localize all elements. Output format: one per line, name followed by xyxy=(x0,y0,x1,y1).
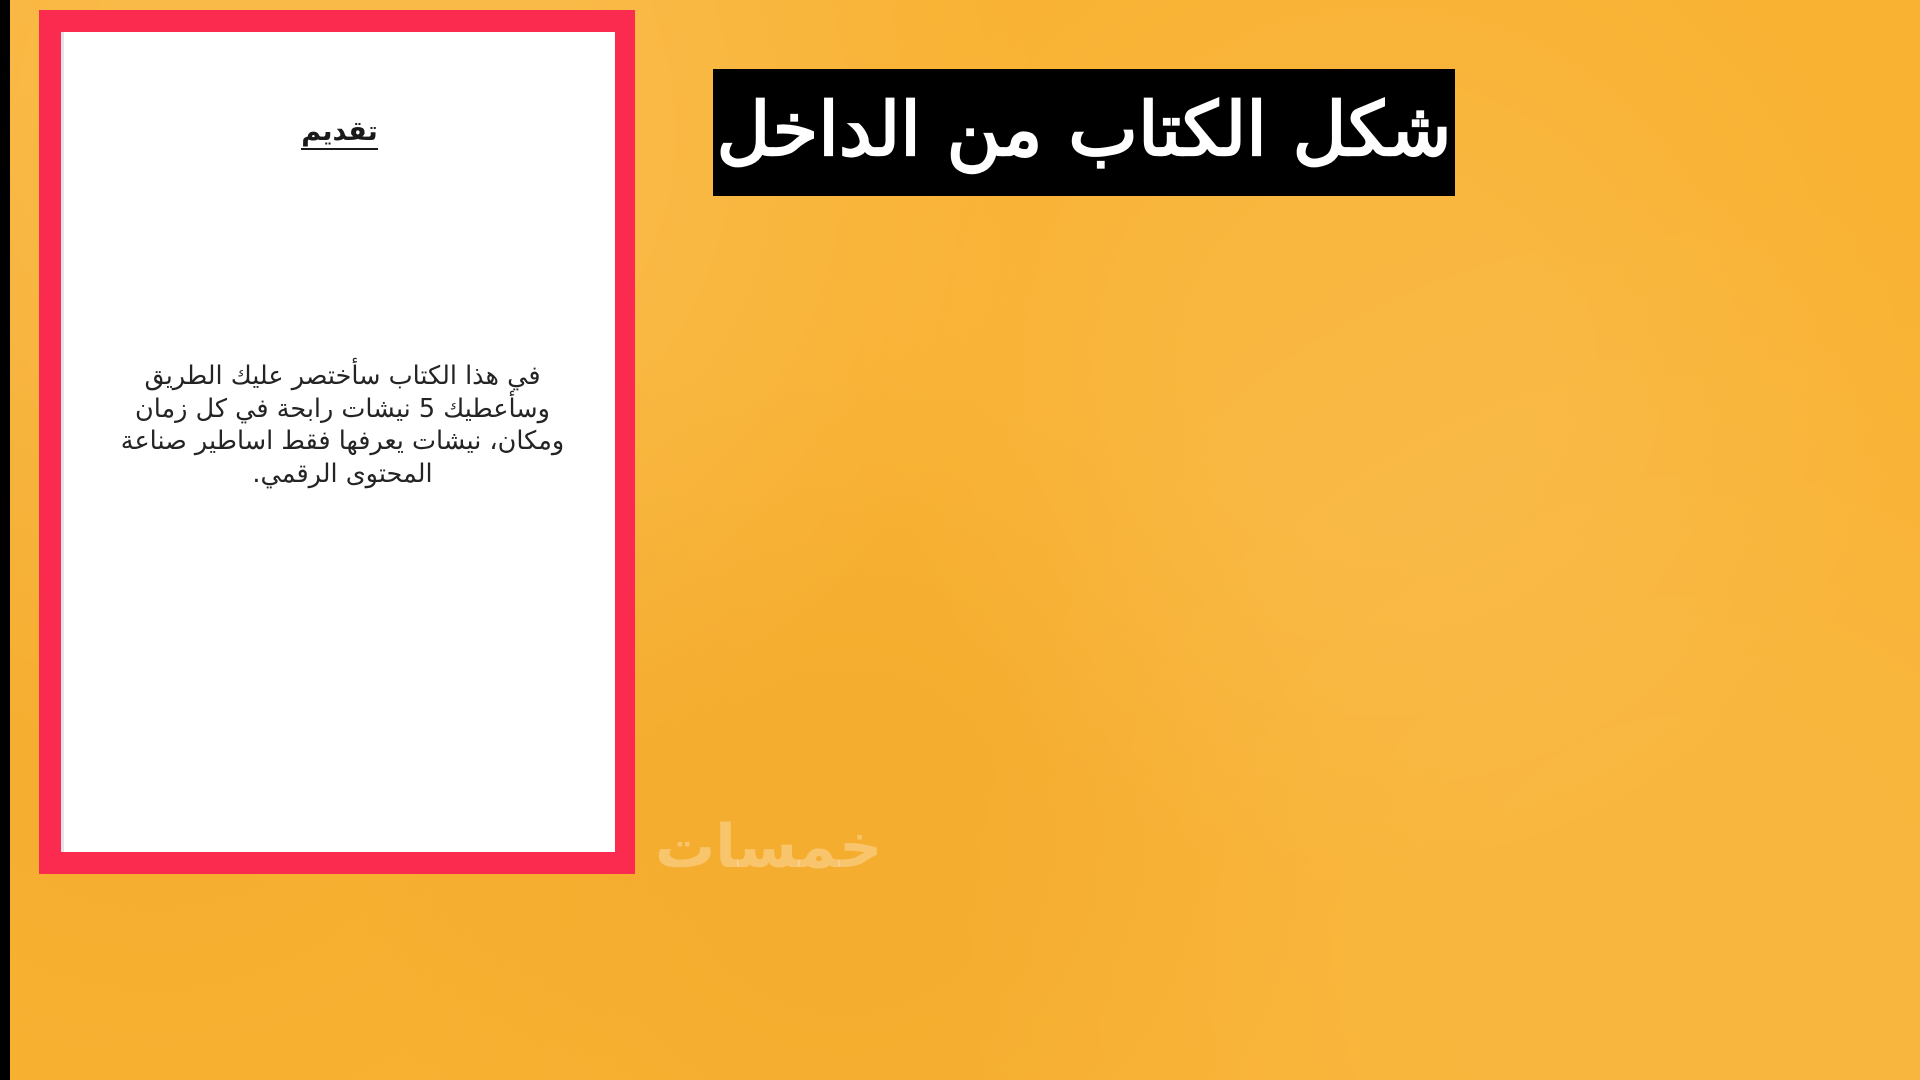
book-page-heading: تقديم xyxy=(64,116,615,147)
book-page-sheet: تقديم في هذا الكتاب سأختصر عليك الطريق و… xyxy=(61,32,615,852)
title-banner: شكل الكتاب من الداخل xyxy=(713,69,1455,196)
left-edge-bar xyxy=(0,0,10,1080)
watermark-text: خمسات xyxy=(655,812,882,882)
book-page-heading-text: تقديم xyxy=(301,116,377,150)
title-banner-text: شكل الكتاب من الداخل xyxy=(717,93,1452,167)
book-page-frame: تقديم في هذا الكتاب سأختصر عليك الطريق و… xyxy=(39,10,635,874)
slide-canvas: تقديم في هذا الكتاب سأختصر عليك الطريق و… xyxy=(0,0,1920,1080)
book-page-body-text: في هذا الكتاب سأختصر عليك الطريق وسأعطيك… xyxy=(110,360,575,491)
